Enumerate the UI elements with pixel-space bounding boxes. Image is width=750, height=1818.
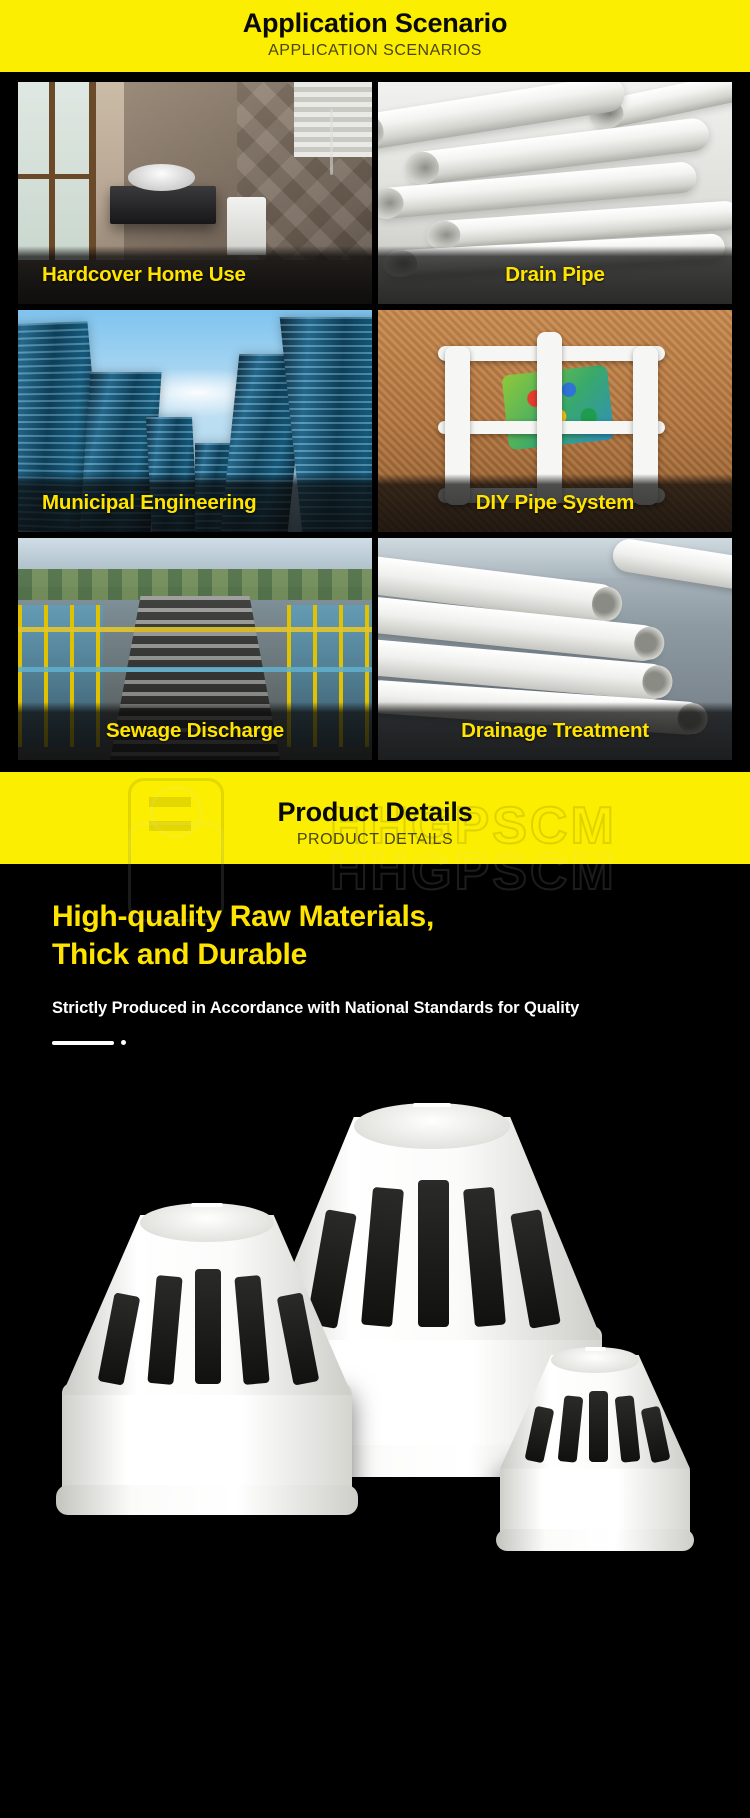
vent-cap-top-slot <box>191 1203 223 1207</box>
divider <box>0 1040 750 1045</box>
scenario-caption: Drain Pipe <box>378 246 732 304</box>
product-details-section: High-quality Raw Materials, Thick and Du… <box>0 864 750 1672</box>
vent-cap-top <box>551 1347 638 1372</box>
product-subheading: Strictly Produced in Accordance with Nat… <box>0 999 750 1018</box>
vent-cap-medium <box>62 1215 352 1515</box>
scenario-caption-label: Drain Pipe <box>378 263 732 287</box>
application-scenario-banner: Application Scenario APPLICATION SCENARI… <box>0 0 750 72</box>
scenario-card-hardcover-home-use[interactable]: Hardcover Home Use <box>18 82 372 304</box>
page-title: Application Scenario <box>0 9 750 37</box>
scenario-card-drain-pipe[interactable]: Drain Pipe <box>378 82 732 304</box>
scenario-caption: Municipal Engineering <box>18 474 372 532</box>
vent-cap-cone <box>62 1215 352 1395</box>
scenario-card-municipal-engineering[interactable]: Municipal Engineering <box>18 310 372 532</box>
scenario-card-drainage-treatment[interactable]: Drainage Treatment <box>378 538 732 760</box>
vent-cap-lip <box>496 1529 694 1551</box>
vent-cap-slots <box>62 1215 352 1395</box>
scenario-caption: Hardcover Home Use <box>18 246 372 304</box>
product-photo <box>0 1097 750 1657</box>
scenario-caption-label: DIY Pipe System <box>378 491 732 515</box>
vent-cap-top <box>140 1203 273 1242</box>
scenario-caption-label: Drainage Treatment <box>378 719 732 743</box>
scenario-grid: Hardcover Home Use Drain Pipe Municipal … <box>0 72 750 772</box>
scenario-card-diy-pipe-system[interactable]: DIY Pipe System <box>378 310 732 532</box>
section-title: Product Details <box>0 798 750 826</box>
scenario-caption: Sewage Discharge <box>18 702 372 760</box>
vent-cap-small <box>500 1355 690 1551</box>
product-heading: High-quality Raw Materials, Thick and Du… <box>0 898 750 973</box>
scenario-card-sewage-discharge[interactable]: Sewage Discharge <box>18 538 372 760</box>
scenario-caption: Drainage Treatment <box>378 702 732 760</box>
vent-cap-top-slot <box>585 1347 606 1351</box>
scenario-caption-label: Sewage Discharge <box>18 719 372 743</box>
vent-cap-top-slot <box>413 1103 451 1107</box>
divider-line <box>52 1041 114 1045</box>
product-heading-line-2: Thick and Durable <box>52 936 750 974</box>
product-details-banner: HHGPSCM Product Details PRODUCT DETAILS <box>0 772 750 864</box>
page-subtitle: APPLICATION SCENARIOS <box>0 43 750 60</box>
vent-cap-lip <box>56 1485 358 1515</box>
scenario-caption-label: Hardcover Home Use <box>18 263 372 287</box>
scenario-caption-label: Municipal Engineering <box>18 491 372 515</box>
product-heading-line-1: High-quality Raw Materials, <box>52 898 750 936</box>
section-subtitle: PRODUCT DETAILS <box>0 832 750 849</box>
vent-cap-top <box>354 1103 510 1150</box>
scenario-caption: DIY Pipe System <box>378 474 732 532</box>
divider-dot <box>121 1040 126 1045</box>
